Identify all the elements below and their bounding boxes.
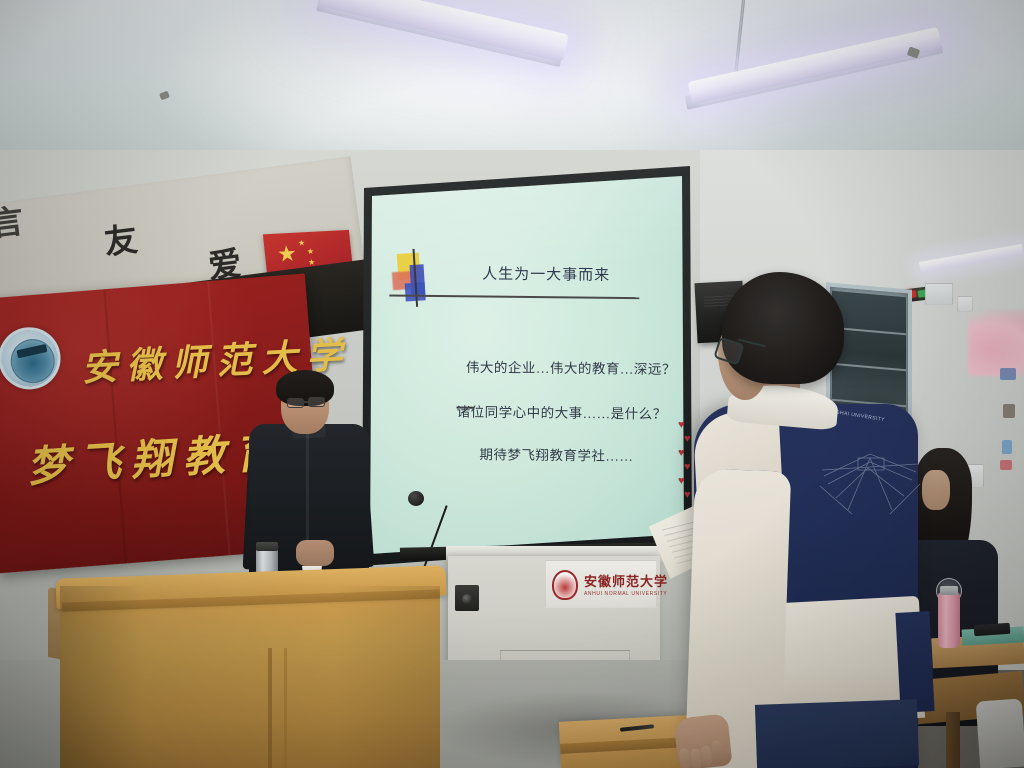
slide-bullet-3: 期待梦飞翔教育学社…… xyxy=(479,443,633,465)
eyeglasses-icon xyxy=(308,397,325,407)
wall-sticker xyxy=(1000,368,1016,380)
flag-star-small: ★ xyxy=(298,239,306,247)
wall-sticker xyxy=(1000,460,1012,470)
wall-slogan-char-2: 友 xyxy=(101,212,142,264)
wall-sticker xyxy=(1002,440,1012,454)
finger xyxy=(711,740,723,759)
heart-icon: ♥ xyxy=(684,462,691,473)
console-vent-hole xyxy=(462,594,472,604)
powerpoint-design-mark-icon xyxy=(391,251,442,306)
heart-icon: ♥ xyxy=(678,476,685,487)
student-standing-foreground-hair xyxy=(722,272,844,384)
slide-bullet-2: 诸位同学心中的大事……是什么？ xyxy=(457,401,667,423)
university-emblem-icon xyxy=(0,325,63,392)
presenter-hands xyxy=(296,540,334,566)
finger xyxy=(679,748,691,768)
podium-shading xyxy=(60,586,440,768)
bottle-cap xyxy=(940,586,958,595)
classroom-scene: 言 友 爱 ★ ★ ★ ★ ★ 安徽师范大学 梦飞翔教育 xyxy=(0,0,1024,768)
flag-star-small: ★ xyxy=(307,248,315,256)
university-name-en: ANHUI NORMAL UNIVERSITY xyxy=(584,591,667,597)
jacket-print-graphic xyxy=(818,424,922,524)
student-trousers xyxy=(755,699,919,768)
jacket-hem-navy xyxy=(895,611,934,713)
thermos-cap xyxy=(256,542,278,551)
pink-water-bottle-icon[interactable] xyxy=(938,592,960,648)
wall-junction-box xyxy=(925,283,953,305)
heart-icon: ♥ xyxy=(678,448,685,459)
heart-icon: ♥ xyxy=(684,434,691,445)
gooseneck-microphone-icon[interactable] xyxy=(408,491,424,506)
university-seal-icon xyxy=(552,570,578,600)
wall-sticker xyxy=(1003,404,1015,418)
pink-cloud-mural xyxy=(968,310,1024,376)
slide-title: 人生为一大事而来 xyxy=(482,263,610,285)
university-name-cn: 安徽师范大学 xyxy=(584,571,668,590)
student-seated-right-face xyxy=(922,470,950,510)
eyeglasses-icon xyxy=(287,398,304,408)
presenter-shirt-placket xyxy=(306,430,309,548)
flag-star-large: ★ xyxy=(276,243,298,266)
emblem-inner-ring xyxy=(9,337,56,384)
banner-fold xyxy=(103,289,127,563)
far-desk-leg xyxy=(946,712,960,768)
heart-icon: ♥ xyxy=(678,420,685,431)
finger xyxy=(690,748,702,768)
university-logo-plate: 安徽师范大学 ANHUI NORMAL UNIVERSITY xyxy=(545,560,657,608)
banner-fold xyxy=(207,281,231,555)
eyeglasses-bridge xyxy=(304,401,309,403)
finger xyxy=(700,745,712,766)
slide-bullet-1: 伟大的企业…伟大的教育…深远？ xyxy=(466,356,676,378)
student-hand xyxy=(673,713,732,768)
chair xyxy=(976,698,1024,768)
heart-icon: ♥ xyxy=(684,490,691,501)
